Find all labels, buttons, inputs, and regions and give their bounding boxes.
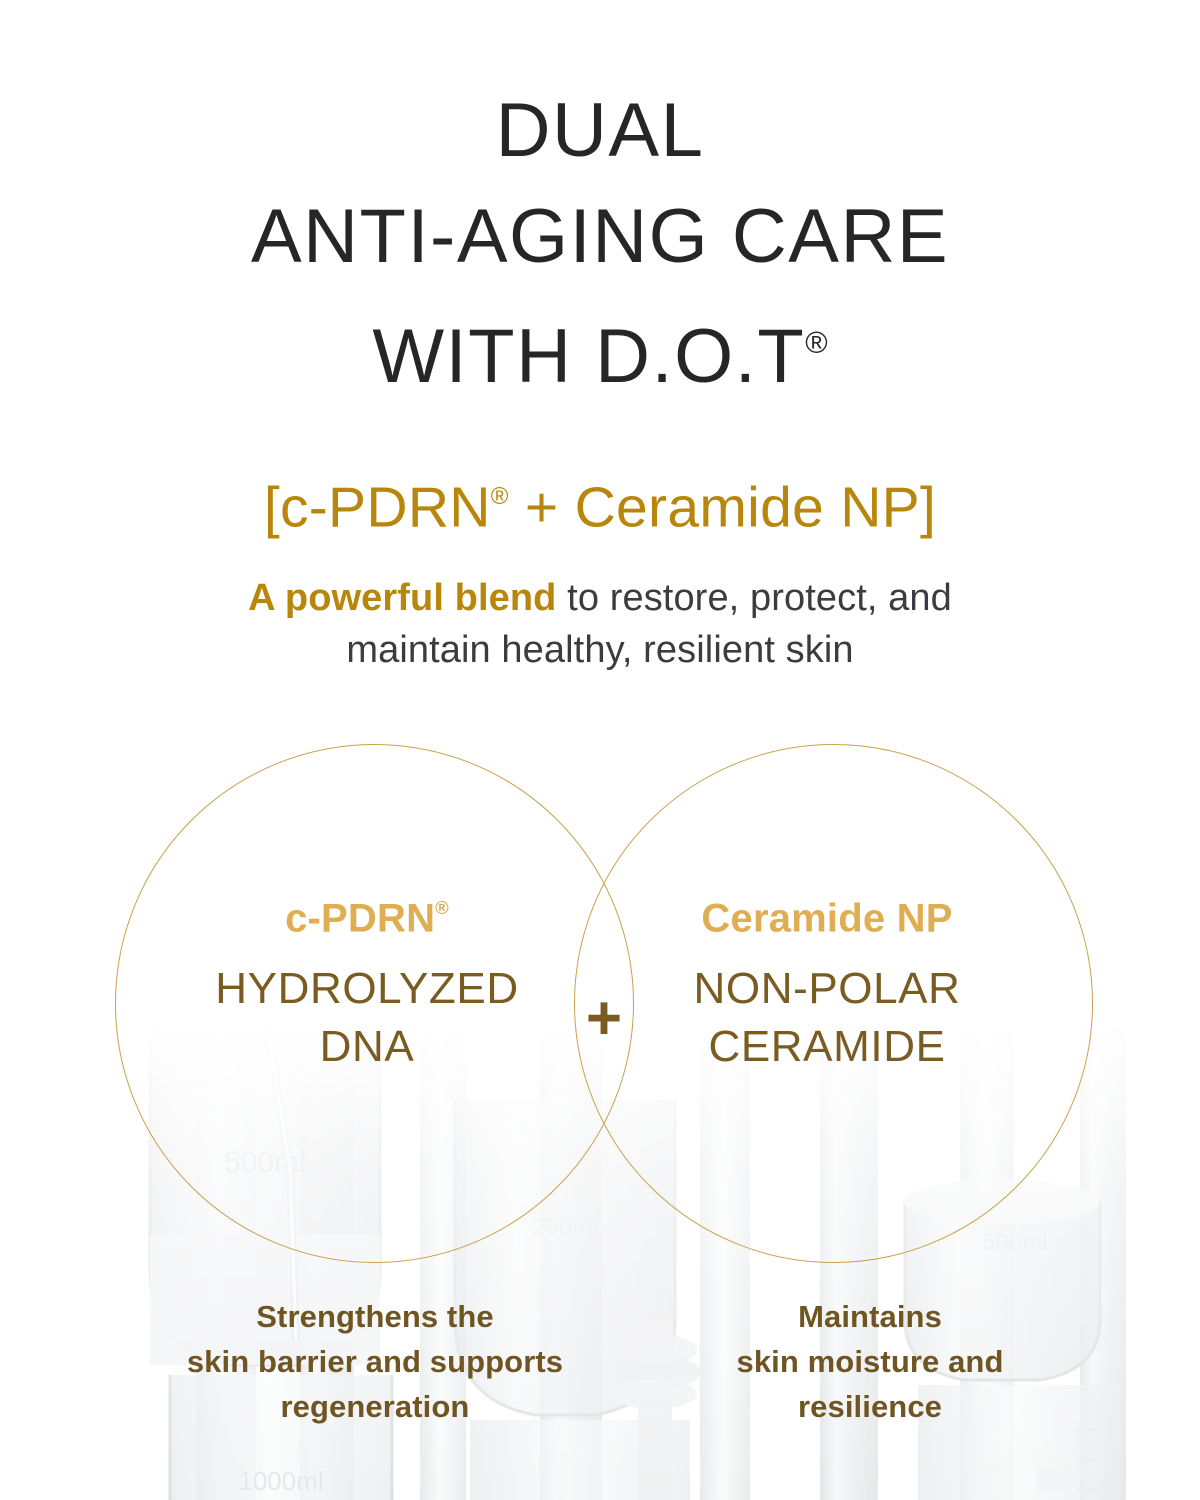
venn-left-ingredient-text: c-PDRN [285, 896, 435, 940]
product-descriptor: A powerful blend to restore, protect, an… [0, 572, 1200, 676]
venn-right-ingredient-text: Ceramide NP [701, 896, 952, 940]
descriptor-line-2: maintain healthy, resilient skin [0, 624, 1200, 676]
svg-text:1000ml: 1000ml [238, 1466, 323, 1496]
venn-left-definition: HYDROLYZED DNA [152, 960, 582, 1076]
descriptor-highlight: A powerful blend [248, 577, 556, 619]
registered-trademark-icon: ® [435, 897, 449, 918]
formula-close: + Ceramide NP] [509, 476, 936, 540]
headline-line-3-text: WITH D.O.T [372, 314, 805, 399]
venn-right-content: Ceramide NP NON-POLAR CERAMIDE [612, 880, 1042, 1076]
ingredient-formula: [c-PDRN® + Ceramide NP] [0, 462, 1200, 543]
benefit-right-line-1: Maintains [640, 1294, 1100, 1339]
page-title: DUAL ANTI-AGING CARE WITH D.O.T® [0, 78, 1200, 410]
venn-left-content: c-PDRN® HYDROLYZED DNA [152, 880, 582, 1076]
formula-open: [c-PDRN [264, 476, 491, 540]
headline-line-1: DUAL [0, 78, 1200, 184]
registered-trademark-icon: ® [491, 483, 509, 510]
venn-left-definition-line-2: DNA [152, 1018, 582, 1076]
venn-right-definition: NON-POLAR CERAMIDE [612, 960, 1042, 1076]
registered-trademark-icon: ® [805, 326, 827, 360]
benefit-caption-right: Maintains skin moisture and resilience [640, 1294, 1100, 1429]
venn-left-ingredient: c-PDRN® [152, 880, 582, 946]
venn-right-ingredient: Ceramide NP [612, 880, 1042, 946]
benefit-right-line-3: resilience [640, 1384, 1100, 1429]
descriptor-line-1: A powerful blend to restore, protect, an… [0, 572, 1200, 624]
venn-left-definition-line-1: HYDROLYZED [152, 960, 582, 1018]
venn-right-definition-line-1: NON-POLAR [612, 960, 1042, 1018]
descriptor-rest: to restore, protect, and [557, 577, 952, 619]
venn-right-definition-line-2: CERAMIDE [612, 1018, 1042, 1076]
benefit-left-line-3: regeneration [110, 1384, 640, 1429]
benefit-left-line-1: Strengthens the [110, 1294, 640, 1339]
benefit-left-line-2: skin barrier and supports [110, 1339, 640, 1384]
headline-line-2: ANTI-AGING CARE [0, 184, 1200, 290]
headline-line-3: WITH D.O.T® [0, 290, 1200, 410]
benefit-right-line-2: skin moisture and [640, 1339, 1100, 1384]
benefit-caption-left: Strengthens the skin barrier and support… [110, 1294, 640, 1429]
venn-diagram: c-PDRN® HYDROLYZED DNA + Ceramide NP NON… [100, 730, 1110, 1280]
